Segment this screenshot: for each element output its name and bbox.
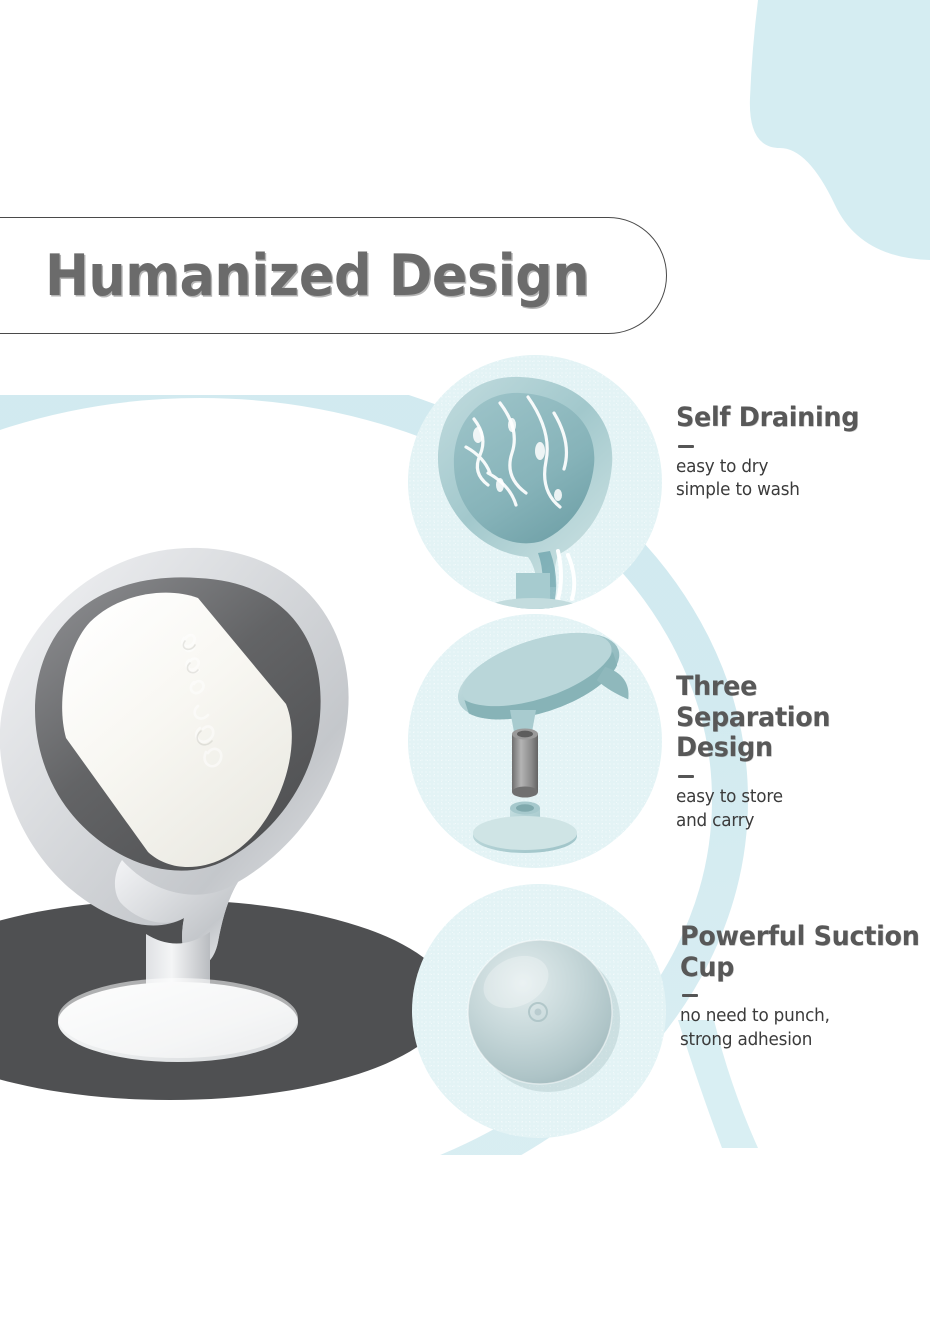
feature-image-self-draining (408, 355, 662, 609)
soap-dish-draining-water-illustration (408, 355, 662, 609)
page-title-pill: Humanized Design (0, 217, 667, 334)
feature-text-three-separation-design: Three Separation Design easy to store an… (662, 614, 930, 833)
feature-sub-line: strong adhesion (680, 1029, 924, 1053)
feature-title-three-separation-design: Three Separation Design (676, 672, 920, 764)
metal-connector-cylinder (512, 729, 538, 798)
feature-divider-dash (678, 445, 694, 448)
feature-sub-line: easy to store (676, 786, 920, 810)
feature-sub-line: easy to dry (676, 456, 920, 480)
feature-sub-three-separation-design: easy to store and carry (676, 786, 920, 833)
feature-title-self-draining: Self Draining (676, 403, 920, 434)
feature-sub-line: simple to wash (676, 479, 920, 503)
page-title: Humanized Design (45, 243, 589, 309)
feature-text-self-draining: Self Draining easy to dry simple to wash (662, 355, 930, 503)
soap-dish-exploded-three-parts-illustration (408, 614, 662, 868)
suction-cup-base-part (473, 802, 577, 854)
feature-row-self-draining: Self Draining easy to dry simple to wash (408, 355, 930, 609)
corner-wave-blob-decoration (630, 0, 930, 260)
hero-product-image (0, 530, 450, 1110)
feature-row-powerful-suction-cup: Powerful Suction Cup no need to punch, s… (412, 884, 930, 1138)
feature-image-powerful-suction-cup (412, 884, 666, 1138)
product-infographic-page: Humanized Design (0, 0, 930, 1320)
feature-sub-self-draining: easy to dry simple to wash (676, 456, 920, 503)
feature-sub-line: no need to punch, (680, 1005, 924, 1029)
suction-cup-underside-illustration (412, 884, 666, 1138)
feature-row-three-separation-design: Three Separation Design easy to store an… (408, 614, 930, 868)
feature-text-powerful-suction-cup: Powerful Suction Cup no need to punch, s… (666, 884, 930, 1053)
feature-sub-powerful-suction-cup: no need to punch, strong adhesion (680, 1005, 924, 1052)
feature-divider-dash (678, 775, 694, 778)
feature-title-powerful-suction-cup: Powerful Suction Cup (680, 922, 924, 983)
feature-sub-line: and carry (676, 810, 920, 834)
feature-divider-dash (682, 994, 698, 997)
feature-image-three-separation-design (408, 614, 662, 868)
